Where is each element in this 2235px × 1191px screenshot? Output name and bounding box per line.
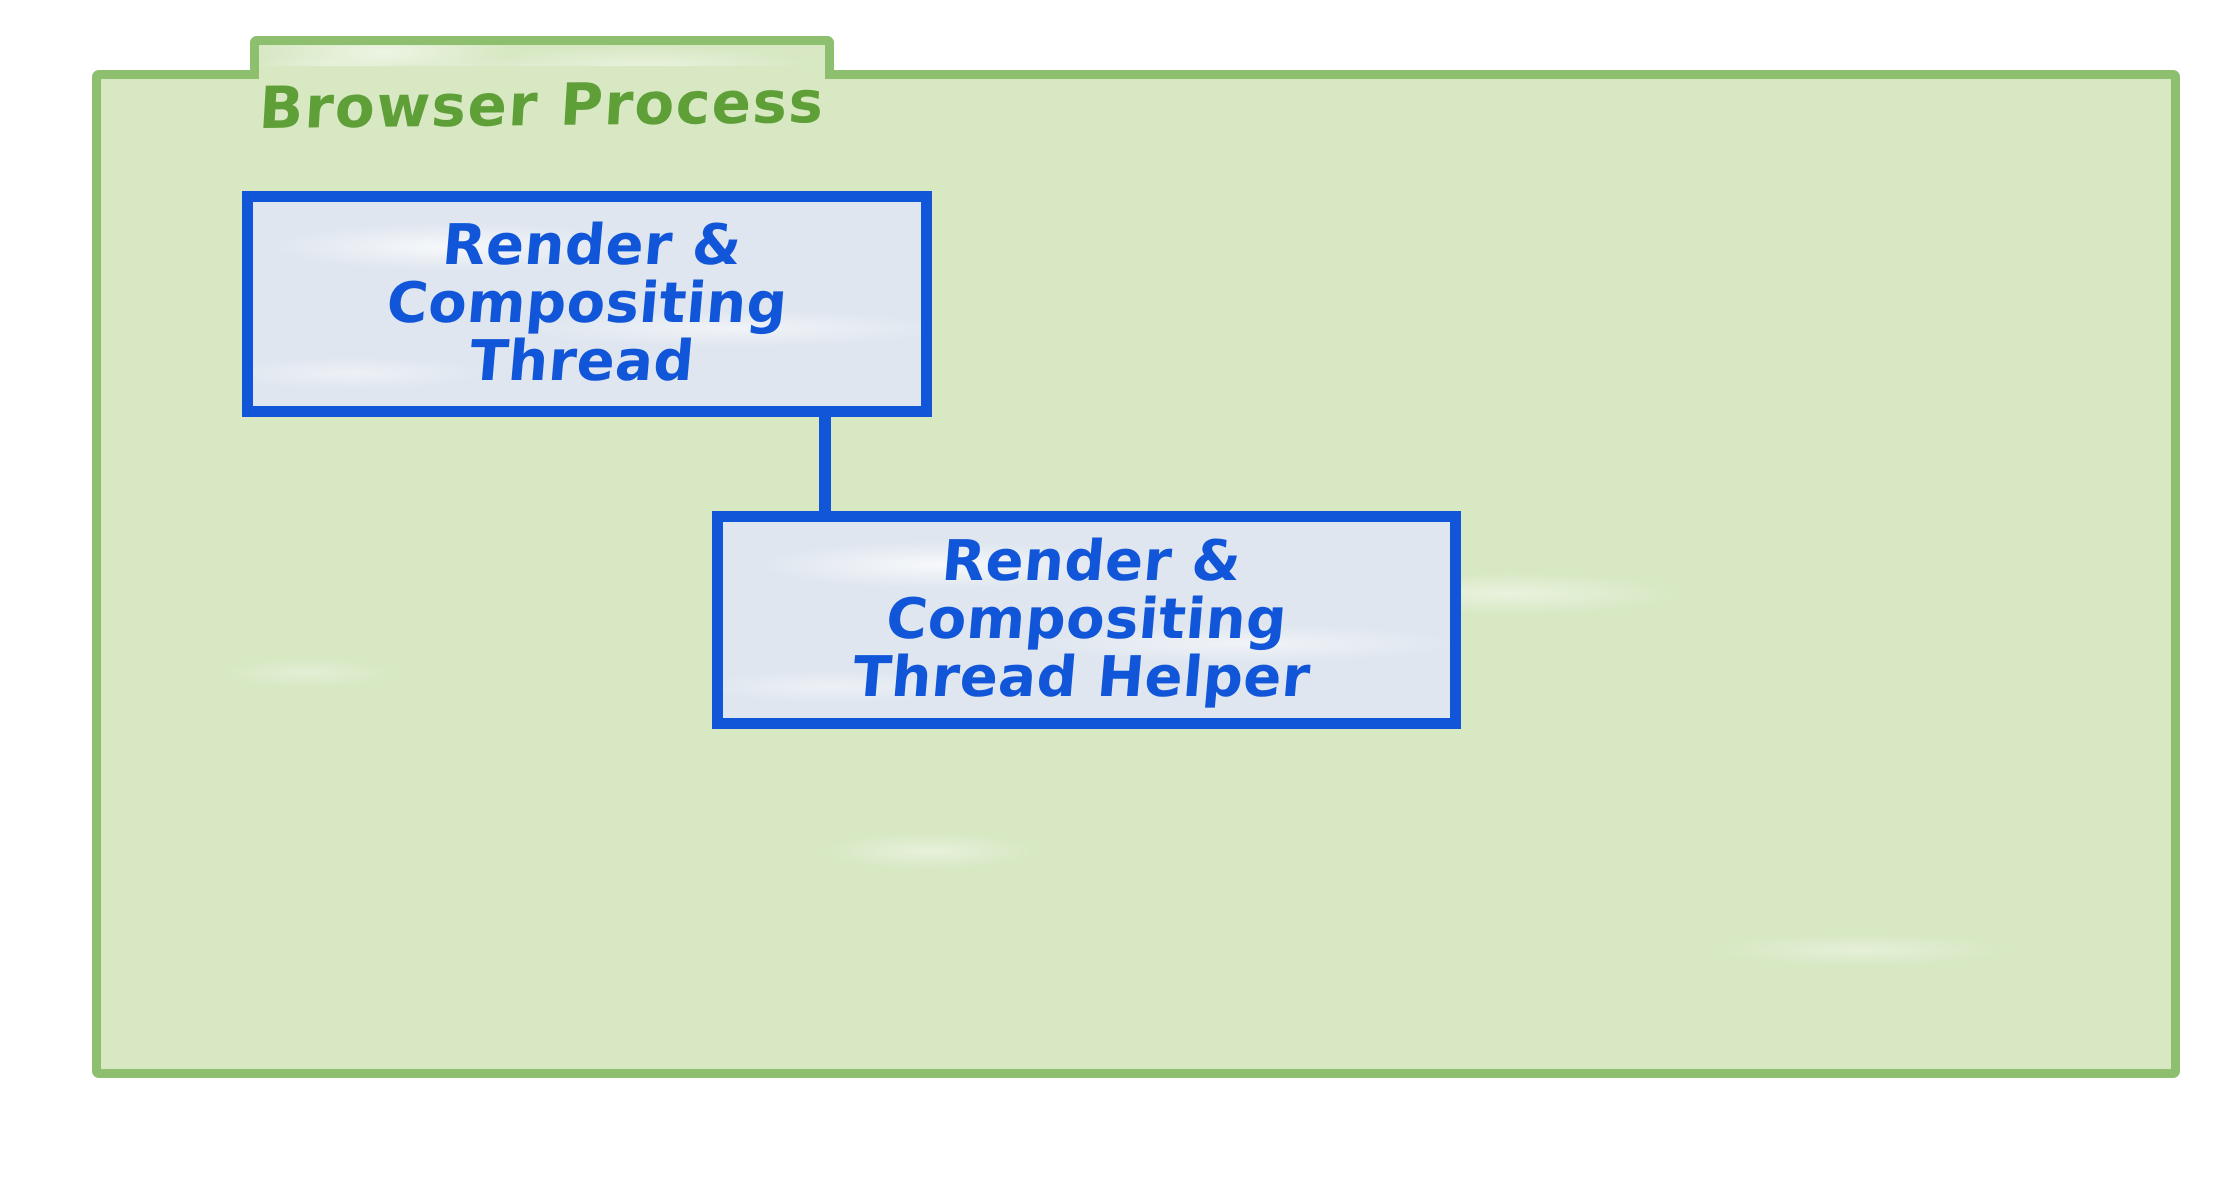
node-render-compositing-thread-label: Render & Compositing Thread [245,217,928,392]
connector-render-thread-to-helper [819,408,831,520]
node-render-compositing-thread-helper[interactable]: Render & Compositing Thread Helper [712,511,1461,729]
diagram-canvas: Browser Process Render & Compositing Thr… [0,0,2235,1191]
node-render-compositing-thread[interactable]: Render & Compositing Thread [242,191,932,417]
node-render-compositing-thread-helper-label: Render & Compositing Thread Helper [715,533,1457,708]
browser-process-group: Browser Process Render & Compositing Thr… [92,36,2180,1078]
browser-process-title: Browser Process [248,73,836,137]
